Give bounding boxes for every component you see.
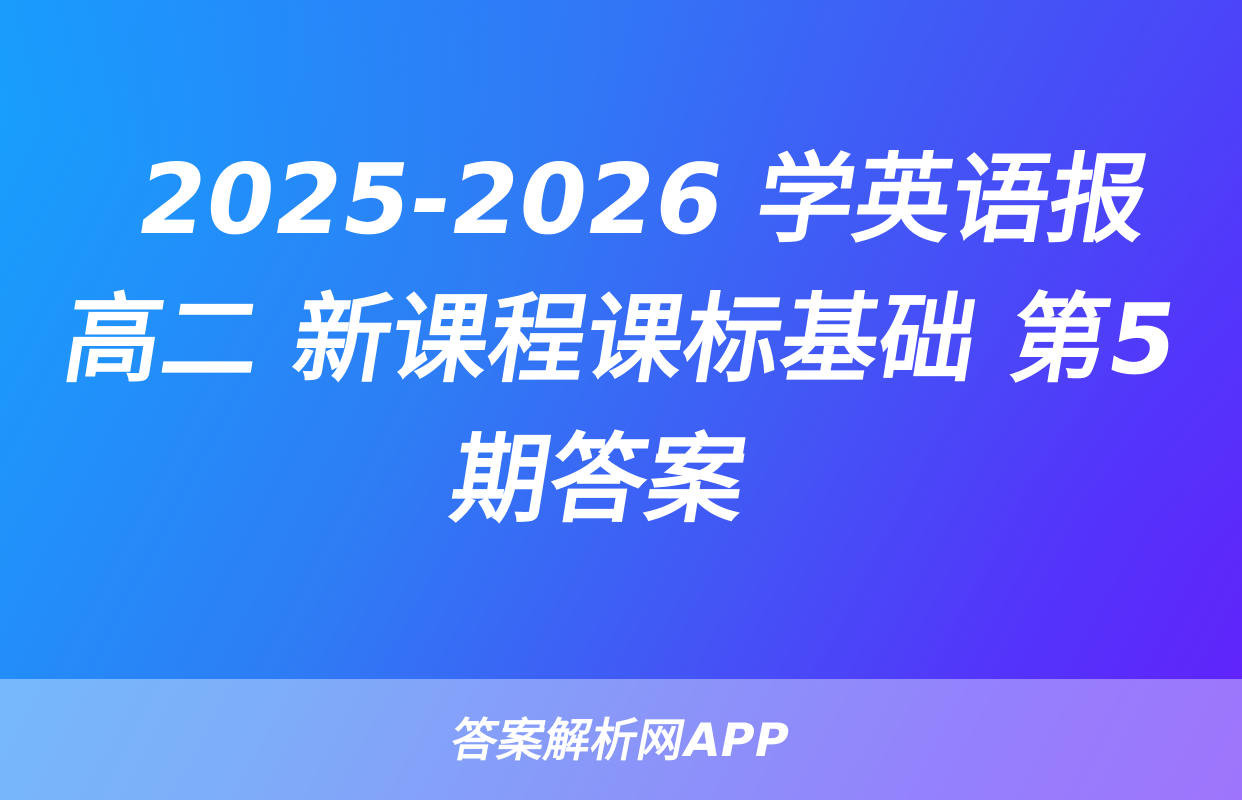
- answer-card: 2025-2026 学英语报 高二 新课程课标基础 第5期答案 答案解析网APP: [0, 0, 1242, 800]
- app-watermark-label: 答案解析网APP: [448, 717, 794, 763]
- footer-watermark-bar: 答案解析网APP: [0, 679, 1242, 800]
- page-title: 2025-2026 学英语报 高二 新课程课标基础 第5期答案: [19, 130, 1224, 550]
- title-container: 2025-2026 学英语报 高二 新课程课标基础 第5期答案: [0, 0, 1242, 680]
